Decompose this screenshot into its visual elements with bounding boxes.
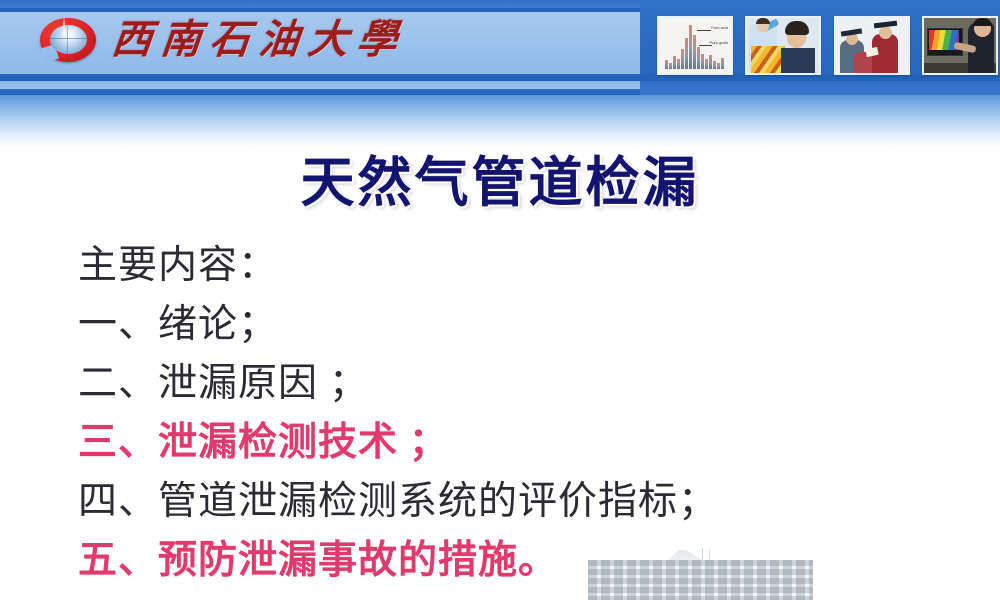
banner-fade-to-white — [0, 95, 1000, 148]
presentation-slide: 西南石油大學 Pure acid — [0, 0, 1000, 600]
slide-content-list: 主要内容： 一、绪论； 二、泄漏原因 ； 三、泄漏检测技术 ； 四、管道泄漏检测… — [78, 236, 978, 590]
graduation-ceremony-thumbnail — [834, 16, 910, 75]
computer-lab-image — [924, 18, 996, 73]
content-line-2: 二、泄漏原因 ； — [78, 354, 978, 413]
content-line-heading: 主要内容： — [78, 236, 978, 295]
spectrum-chart-thumbnail: Pure acid Pure grain — [657, 16, 733, 75]
laboratory-students-thumbnail — [745, 16, 821, 75]
computer-lab-thumbnail — [922, 16, 998, 75]
content-line-4: 四、管道泄漏检测系统的评价指标； — [78, 472, 978, 531]
slide-header-banner: 西南石油大學 Pure acid — [0, 0, 1000, 148]
emblem-globe — [50, 25, 87, 54]
content-line-5: 五、预防泄漏事故的措施。 — [78, 531, 978, 590]
laboratory-students-image — [747, 18, 819, 73]
university-wordmark: 西南石油大學 — [109, 14, 464, 66]
banner-right-panel-rail — [640, 74, 1000, 81]
university-emblem-icon — [37, 16, 103, 66]
emblem-spark — [63, 16, 65, 34]
slide-title: 天然气管道检漏 — [0, 152, 1000, 214]
content-line-3: 三、泄漏检测技术 ； — [78, 413, 978, 472]
graduation-ceremony-image — [836, 18, 908, 73]
spectrum-chart-image: Pure acid Pure grain — [659, 18, 731, 73]
content-line-1: 一、绪论； — [78, 295, 978, 354]
thumb-annotation-top: Pure acid — [711, 26, 728, 30]
thumb-annotation-bottom: Pure grain — [710, 41, 728, 45]
